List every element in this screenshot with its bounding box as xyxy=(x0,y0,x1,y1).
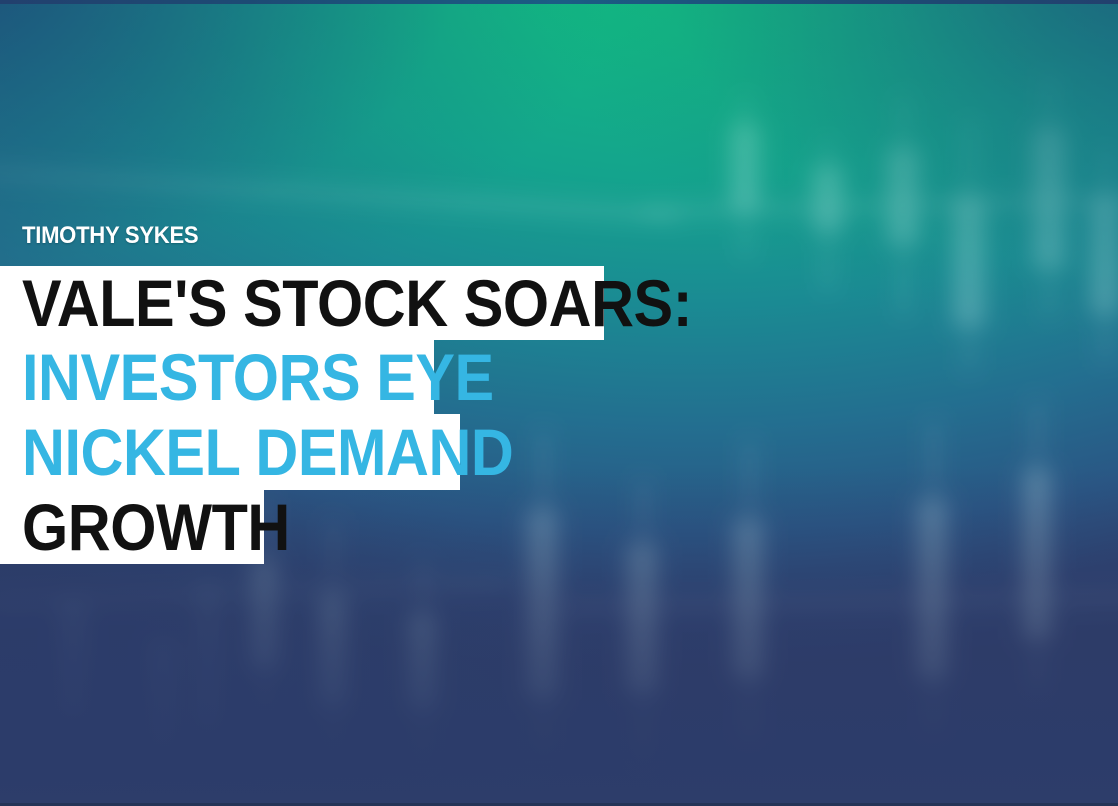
headline-line-1: VALE'S STOCK SOARS: xyxy=(0,266,604,340)
headline-line-2: INVESTORS EYE xyxy=(0,340,434,414)
headline-line-3-text: NICKEL DEMAND xyxy=(22,414,513,490)
headline: VALE'S STOCK SOARS: INVESTORS EYE NICKEL… xyxy=(0,266,604,564)
headline-line-4-text: GROWTH xyxy=(22,490,290,564)
brand-wordmark: TIMOTHY SYKES xyxy=(22,224,198,248)
headline-line-3: NICKEL DEMAND xyxy=(0,414,460,490)
promo-graphic: TIMOTHY SYKES VALE'S STOCK SOARS: INVEST… xyxy=(0,0,1118,806)
top-edge-line xyxy=(0,0,1118,4)
headline-line-4: GROWTH xyxy=(0,490,264,564)
headline-line-2-text: INVESTORS EYE xyxy=(22,340,494,414)
headline-line-1-text: VALE'S STOCK SOARS: xyxy=(22,266,692,340)
